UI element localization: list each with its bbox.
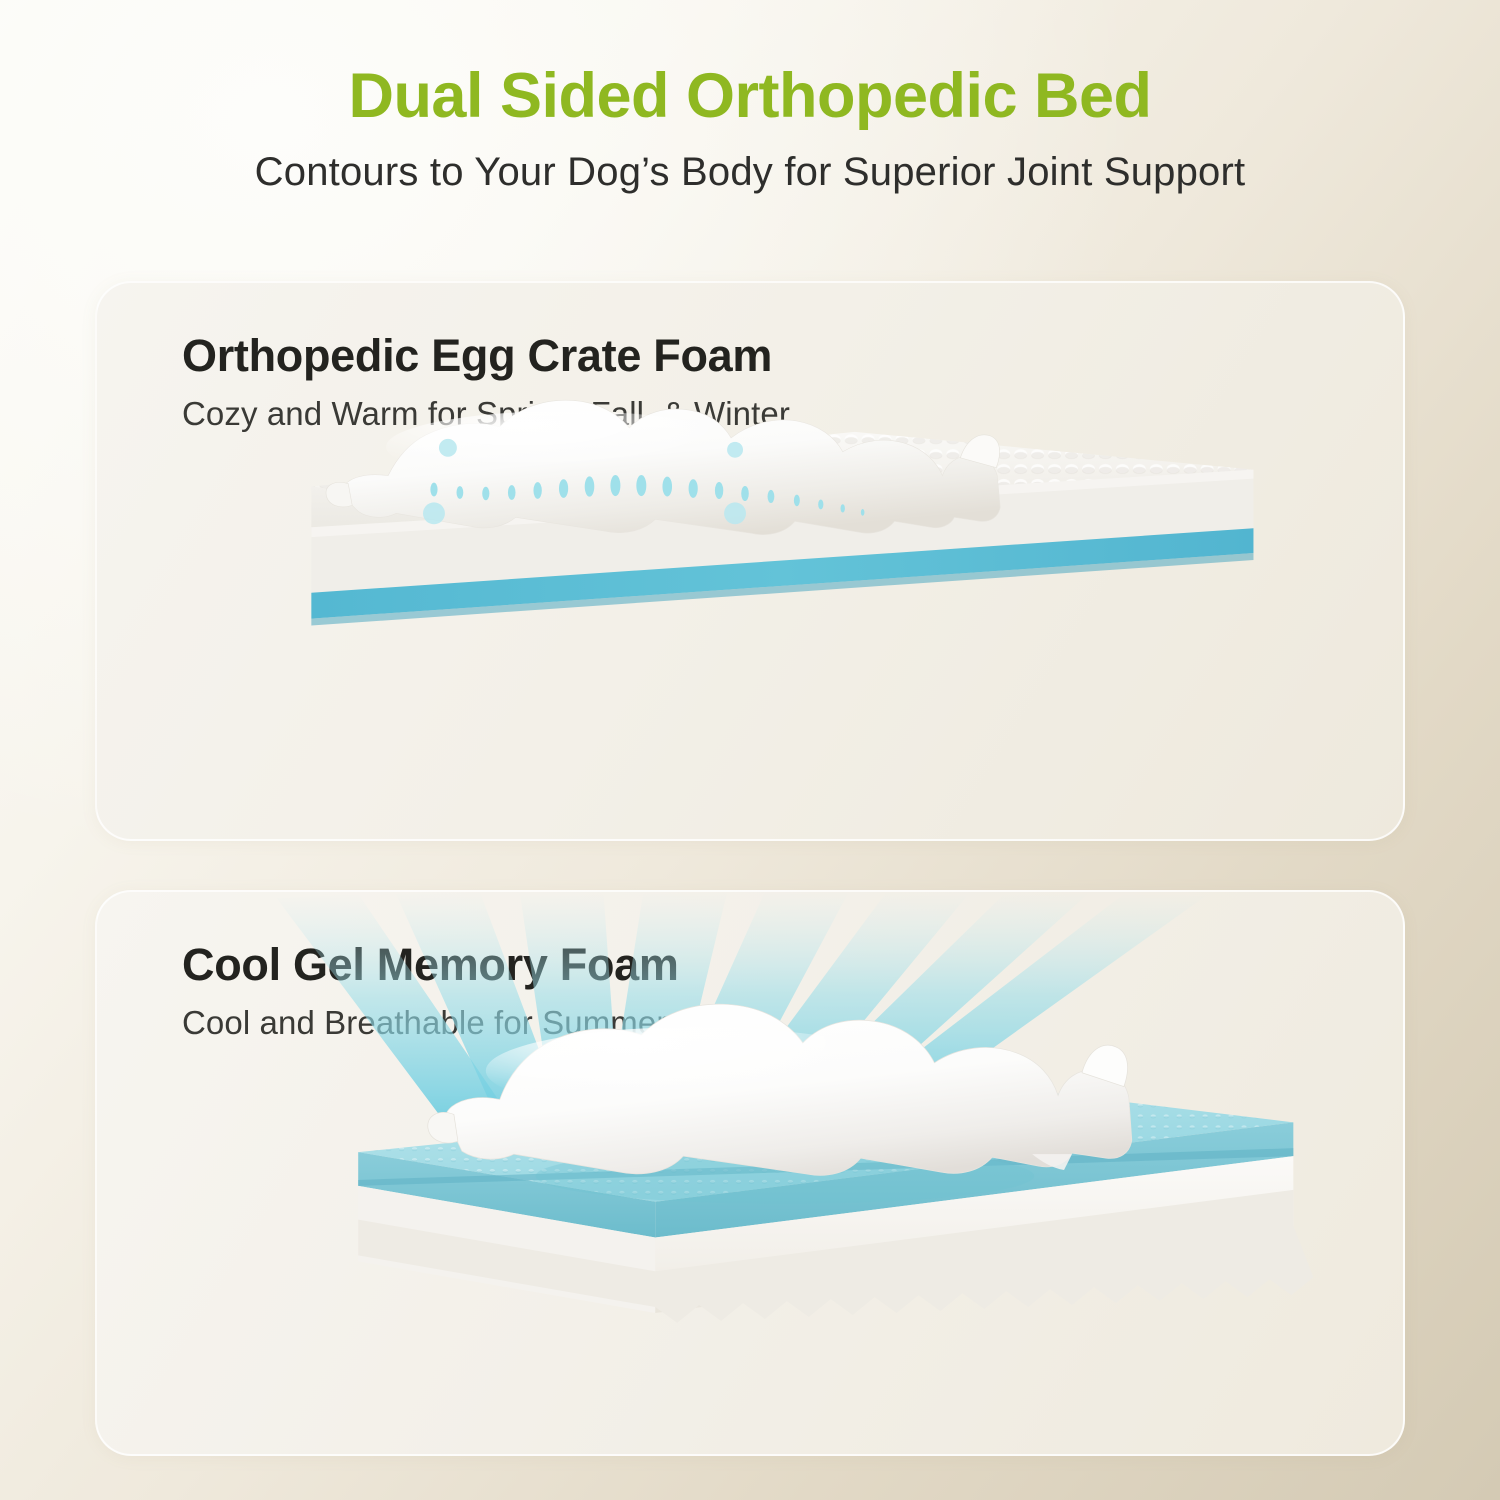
card-2-header: Cool Gel Memory Foam Cool and Breathable… [97, 892, 1403, 1042]
gel-perforations [346, 1081, 1303, 1210]
teal-base-shadow [311, 553, 1253, 625]
joint-pressure-highlights [423, 439, 746, 524]
dog-tail [428, 1112, 458, 1143]
gel-foam-edge-shadow [358, 1148, 1293, 1186]
dog-ear [1082, 1045, 1128, 1086]
feature-card-cool-gel-memory-foam: Cool Gel Memory Foam Cool and Breathable… [95, 890, 1405, 1456]
card-2-title: Cool Gel Memory Foam [182, 940, 1403, 990]
teal-base-strip [311, 528, 1253, 618]
contour-ripple-glow [456, 472, 1054, 555]
header: Dual Sided Orthopedic Bed Contours to Yo… [0, 0, 1500, 194]
gel-indentation-shadow [536, 1148, 1034, 1204]
card-2-subtitle: Cool and Breathable for Summer [182, 1004, 1403, 1042]
contour-ripple-rings [483, 480, 1017, 551]
egg-crate-front-face [311, 487, 1140, 556]
white-base-left [358, 1186, 655, 1313]
white-base-sawtooth [358, 1190, 1313, 1323]
gel-foam-top-surface [358, 1087, 1293, 1202]
foam-body-highlight [311, 470, 1253, 538]
dog-ear [960, 435, 999, 468]
egg-crate-top-surface [311, 432, 1253, 543]
dog-tail [326, 482, 352, 507]
dog-front-leg [1032, 1154, 1072, 1170]
white-base-front [655, 1156, 1293, 1313]
feature-card-egg-crate-foam: Orthopedic Egg Crate Foam Cozy and Warm … [95, 281, 1405, 841]
foam-body-front [311, 470, 1253, 593]
page-subtitle: Contours to Your Dog’s Body for Superior… [0, 150, 1500, 194]
gel-foam-front-edge [655, 1122, 1293, 1237]
card-1-title: Orthopedic Egg Crate Foam [182, 331, 1403, 381]
gel-foam-left-edge [358, 1152, 655, 1237]
card-1-header: Orthopedic Egg Crate Foam Cozy and Warm … [97, 283, 1403, 433]
page-title: Dual Sided Orthopedic Bed [0, 62, 1500, 130]
card-1-subtitle: Cozy and Warm for Spring, Fall, & Winter [182, 395, 1403, 433]
spine-pressure-points [430, 475, 864, 516]
